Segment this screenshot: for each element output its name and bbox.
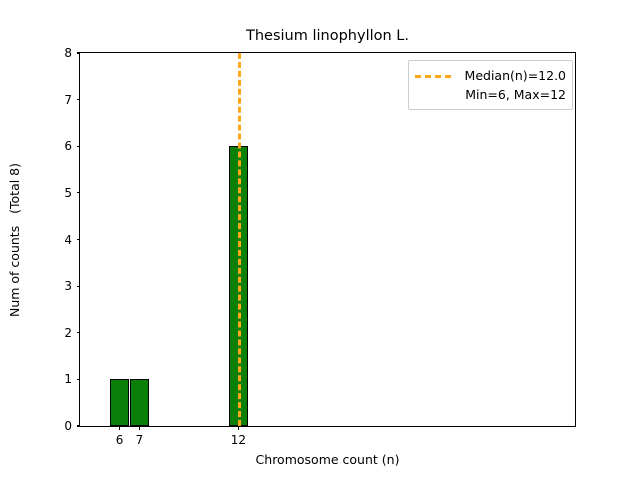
y-tick-label: 3	[64, 278, 72, 294]
x-tick-mark	[119, 426, 120, 430]
y-tick-mark	[77, 146, 81, 147]
bar	[130, 379, 150, 426]
y-tick-mark	[77, 239, 81, 240]
y-tick-label: 2	[64, 325, 72, 341]
y-tick-label: 0	[64, 418, 72, 434]
y-axis-label: Num of counts (Total 8)	[7, 162, 23, 316]
x-axis-label: Chromosome count (n)	[79, 452, 576, 468]
y-tick-mark	[77, 379, 81, 380]
legend-entry-minmax: Min=6, Max=12	[415, 85, 566, 104]
x-tick-mark	[139, 426, 140, 430]
y-tick-mark	[77, 425, 81, 426]
y-tick-label: 8	[64, 45, 72, 61]
y-tick-mark	[77, 99, 81, 100]
legend-label-median: Median(n)=12.0	[458, 68, 566, 84]
x-tick-label: 7	[109, 432, 169, 448]
y-tick-label: 7	[64, 92, 72, 108]
chart-figure: Thesium linophyllon L. Num of counts (To…	[0, 0, 640, 480]
y-tick-label: 5	[64, 185, 72, 201]
x-tick-label: 12	[208, 432, 268, 448]
y-axis-label-container: Num of counts (Total 8)	[0, 52, 30, 427]
legend-label-minmax: Min=6, Max=12	[458, 87, 566, 103]
legend-dashed-line-icon	[415, 70, 451, 82]
x-tick-mark	[238, 426, 239, 430]
median-vline	[238, 53, 241, 426]
chart-legend: Median(n)=12.0 Min=6, Max=12	[408, 60, 573, 110]
y-tick-mark	[77, 192, 81, 193]
legend-entry-median: Median(n)=12.0	[415, 66, 566, 85]
y-tick-mark	[77, 52, 81, 53]
y-tick-label: 4	[64, 232, 72, 248]
bar	[110, 379, 130, 426]
chart-title: Thesium linophyllon L.	[79, 27, 576, 45]
y-tick-label: 1	[64, 371, 72, 387]
y-tick-mark	[77, 332, 81, 333]
y-tick-label: 6	[64, 138, 72, 154]
y-tick-mark	[77, 286, 81, 287]
